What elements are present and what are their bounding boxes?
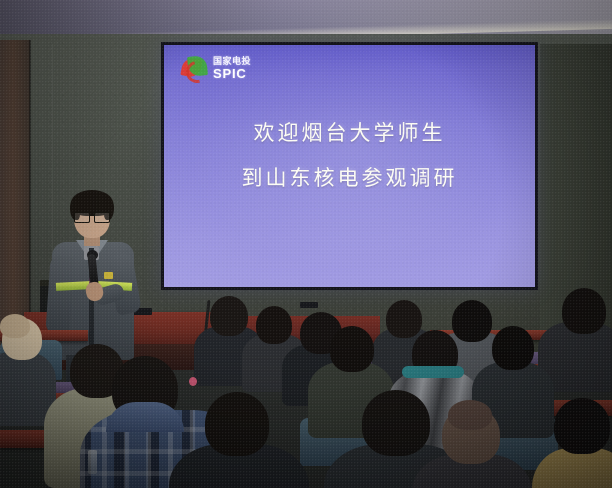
desk-equipment-right xyxy=(300,302,318,308)
logo-chinese-name: 国家电投 xyxy=(213,57,251,66)
spic-logo: 国家电投 SPIC xyxy=(181,55,251,82)
photo-scene: 国家电投 SPIC 欢迎烟台大学师生 到山东核电参观调研 xyxy=(0,0,612,488)
slide-text-block: 欢迎烟台大学师生 到山东核电参观调研 xyxy=(164,123,535,213)
projection-screen: 国家电投 SPIC 欢迎烟台大学师生 到山东核电参观调研 xyxy=(164,45,535,287)
pink-object-on-desk xyxy=(189,377,197,386)
slide-line-2: 到山东核电参观调研 xyxy=(164,168,535,189)
spic-logo-text: 国家电投 SPIC xyxy=(213,57,251,80)
logo-english-abbrev: SPIC xyxy=(213,67,251,80)
presenter-glasses-icon xyxy=(73,212,111,221)
projection-screen-frame: 国家电投 SPIC 欢迎烟台大学师生 到山东核电参观调研 xyxy=(161,42,538,290)
spic-logo-mark-icon xyxy=(181,55,208,82)
water-bottle xyxy=(88,450,97,474)
presenter-badge xyxy=(104,272,113,279)
slide-line-1: 欢迎烟台大学师生 xyxy=(164,123,535,144)
